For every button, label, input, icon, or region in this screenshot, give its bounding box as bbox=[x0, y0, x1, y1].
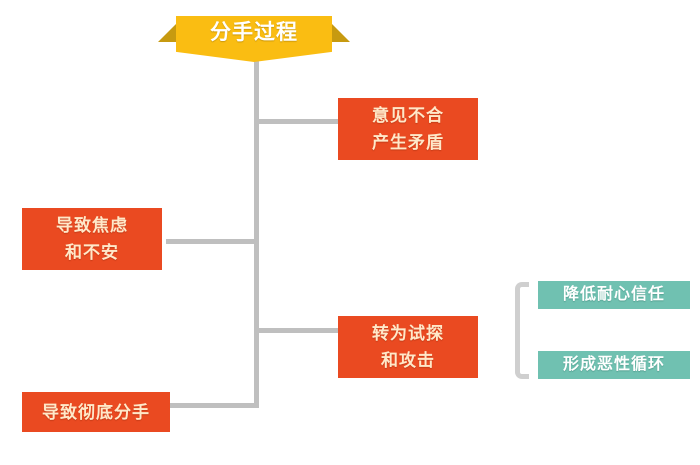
diagram-title-banner: 分手过程 bbox=[158, 16, 350, 62]
node-label: 形成恶性循环 bbox=[563, 355, 665, 375]
node-box-breakup[interactable]: 导致彻底分手 bbox=[22, 392, 170, 432]
connector-trunk-upper bbox=[254, 56, 259, 126]
node-label: 导致彻底分手 bbox=[42, 399, 150, 426]
node-box-testing-attack[interactable]: 转为试探 和攻击 bbox=[338, 316, 478, 378]
node-box-lower-trust[interactable]: 降低耐心信任 bbox=[538, 281, 690, 309]
node-box-disagreement[interactable]: 意见不合 产生矛盾 bbox=[338, 98, 478, 160]
node-label: 转为试探 和攻击 bbox=[372, 320, 444, 374]
node-label: 导致焦虑 和不安 bbox=[56, 212, 128, 266]
mindmap-canvas: 分手过程 意见不合 产生矛盾 导致焦虑 和不安 转为试探 和攻击 导致彻底分手 … bbox=[0, 0, 700, 465]
diagram-title-label: 分手过程 bbox=[210, 16, 298, 50]
connector-to-node-2 bbox=[166, 239, 259, 244]
node-label: 降低耐心信任 bbox=[563, 285, 665, 305]
ribbon-body: 分手过程 bbox=[176, 16, 332, 62]
connector-trunk-lower bbox=[254, 328, 259, 408]
group-bracket bbox=[515, 282, 529, 379]
node-box-anxiety[interactable]: 导致焦虑 和不安 bbox=[22, 208, 162, 270]
node-label: 意见不合 产生矛盾 bbox=[372, 102, 444, 156]
connector-trunk-middle bbox=[254, 119, 259, 335]
connector-to-node-4 bbox=[166, 403, 259, 408]
connector-to-node-3 bbox=[254, 328, 342, 333]
connector-to-node-1 bbox=[254, 119, 342, 124]
node-box-vicious-cycle[interactable]: 形成恶性循环 bbox=[538, 351, 690, 379]
